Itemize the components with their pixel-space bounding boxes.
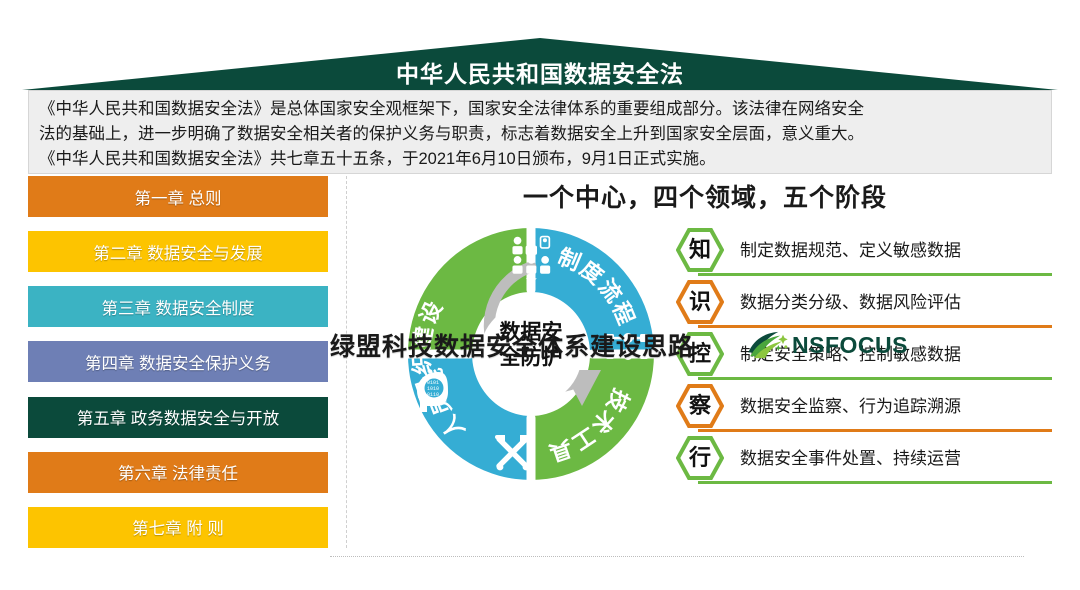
chapter-item-6[interactable]: 第六章 法律责任: [28, 452, 328, 493]
chapter-label: 第一章 总则: [134, 185, 221, 209]
hexagon-badge-icon: 察: [676, 384, 724, 428]
stage-key: 知: [689, 239, 711, 261]
section-heading: 一个中心，四个领域，五个阶段: [358, 178, 1052, 214]
stage-text: 数据安全监察、行为追踪溯源: [740, 380, 961, 428]
chapter-item-7[interactable]: 第七章 附 则: [28, 507, 328, 548]
slide-root: 中华人民共和国数据安全法 《中华人民共和国数据安全法》是总体国家安全观框架下，国…: [0, 0, 1080, 590]
brand-logo: NSFOCUS: [746, 330, 908, 360]
brand-name: NSFOCUS: [792, 332, 908, 359]
chapter-label: 第三章 数据安全制度: [101, 295, 254, 319]
stage-key: 行: [689, 447, 711, 469]
hexagon-badge-icon: 行: [676, 436, 724, 480]
chapter-label: 第七章 附 则: [132, 515, 224, 539]
chapter-item-4[interactable]: 第四章 数据安全保护义务: [28, 341, 328, 382]
hexagon-badge-icon: 知: [676, 228, 724, 272]
page-title: 中华人民共和国数据安全法: [22, 62, 1058, 87]
intro-line-1: 《中华人民共和国数据安全法》是总体国家安全观框架下，国家安全法律体系的重要组成部…: [39, 97, 1041, 122]
nsfocus-swoosh-logo: [746, 330, 790, 360]
footer-title: 绿盟科技数据安全体系建设思路: [330, 327, 694, 363]
stage-row-1[interactable]: 知 制定数据规范、定义敏感数据: [676, 224, 1052, 276]
chapter-item-2[interactable]: 第二章 数据安全与发展: [28, 231, 328, 272]
chapter-label: 第四章 数据安全保护义务: [85, 350, 271, 374]
chapter-label: 第二章 数据安全与发展: [93, 240, 263, 264]
stage-key: 察: [689, 395, 711, 417]
chapter-item-3[interactable]: 第三章 数据安全制度: [28, 286, 328, 327]
chapter-item-5[interactable]: 第五章 政务数据安全与开放: [28, 397, 328, 438]
stage-text: 数据分类分级、数据风险评估: [740, 276, 961, 324]
svg-text:0110: 0110: [427, 392, 439, 398]
hexagon-badge-icon: 识: [676, 280, 724, 324]
stage-row-2[interactable]: 识 数据分类分级、数据风险评估: [676, 276, 1052, 328]
intro-line-3: 《中华人民共和国数据安全法》共七章五十五条，于2021年6月10日颁布，9月1日…: [39, 147, 1041, 172]
stage-key: 识: [689, 291, 711, 313]
stage-row-5[interactable]: 行 数据安全事件处置、持续运营: [676, 432, 1052, 484]
stage-text: 制定数据规范、定义敏感数据: [740, 224, 961, 272]
stage-row-4[interactable]: 察 数据安全监察、行为追踪溯源: [676, 380, 1052, 432]
stage-text: 数据安全事件处置、持续运营: [740, 432, 961, 480]
footer-divider: [330, 556, 1024, 558]
title-banner: 中华人民共和国数据安全法: [22, 38, 1058, 90]
intro-line-2: 法的基础上，进一步明确了数据安全相关者的保护义务与职责，标志着数据安全上升到国家…: [39, 122, 1041, 147]
chapter-list: 第一章 总则 第二章 数据安全与发展 第三章 数据安全制度 第四章 数据安全保护…: [28, 176, 328, 548]
chapter-item-1[interactable]: 第一章 总则: [28, 176, 328, 217]
footer: 绿盟科技数据安全体系建设思路 NSFOCUS: [330, 322, 1024, 368]
chapter-label: 第六章 法律责任: [118, 460, 238, 484]
chapter-label: 第五章 政务数据安全与开放: [77, 405, 280, 429]
intro-panel: 《中华人民共和国数据安全法》是总体国家安全观框架下，国家安全法律体系的重要组成部…: [28, 90, 1052, 174]
stage-rule: [698, 481, 1052, 484]
